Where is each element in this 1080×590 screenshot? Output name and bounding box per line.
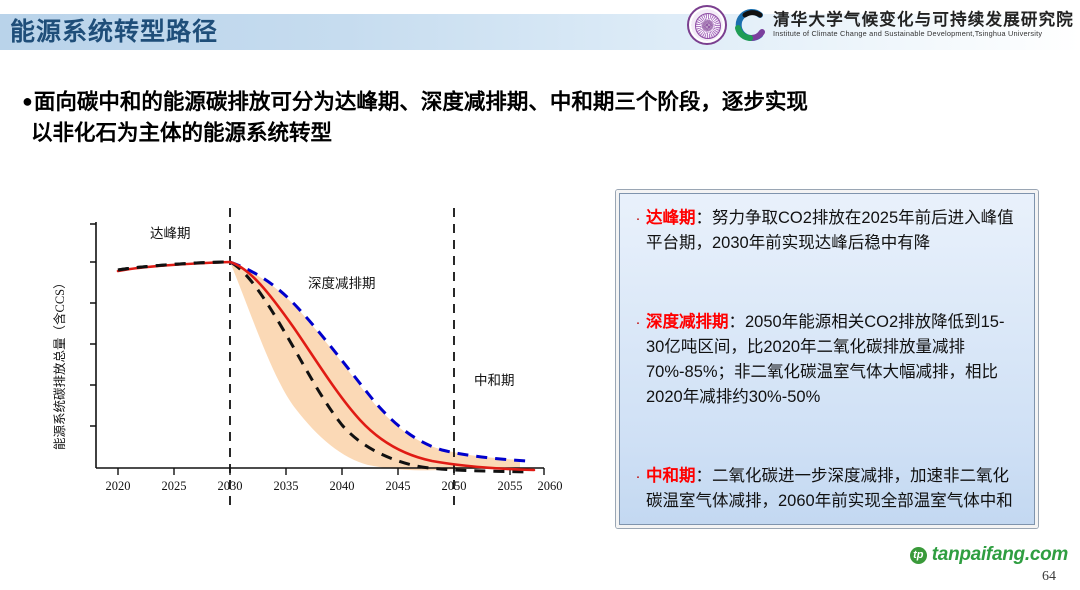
- y-axis-ticks: [90, 224, 96, 426]
- list-bullet-glyph: ·: [630, 206, 646, 231]
- phase-key-separator: ：: [729, 313, 746, 331]
- phase-key-separator: ：: [696, 467, 713, 485]
- x-tick-label: 2040: [330, 479, 355, 493]
- institute-logo-text: 清华大学气候变化与可持续发展研究院 Institute of Climate C…: [773, 11, 1074, 39]
- phase-key-label: 深度减排期: [646, 313, 729, 331]
- lead-bullet-glyph: ●: [22, 91, 33, 111]
- phase-description-text: 深度减排期：2050年能源相关CO2排放降低到15-30亿吨区间，比2020年二…: [646, 310, 1022, 410]
- phase-key-label: 中和期: [646, 467, 696, 485]
- page-number: 64: [1042, 569, 1056, 585]
- phase-description-text: 中和期：二氧化碳进一步深度减排，加速非二氧化碳温室气体减排，2060年前实现全部…: [646, 464, 1022, 514]
- phase-description-box: · 达峰期：努力争取CO2排放在2025年前后进入峰值平台期，2030年前实现达…: [616, 190, 1038, 528]
- scenario-band-area: [230, 262, 520, 470]
- phase-description-list: · 达峰期：努力争取CO2排放在2025年前后进入峰值平台期，2030年前实现达…: [619, 193, 1035, 525]
- x-tick-label: 2060: [538, 479, 563, 493]
- list-item: · 深度减排期：2050年能源相关CO2排放降低到15-30亿吨区间，比2020…: [630, 310, 1022, 410]
- list-bullet-glyph: ·: [630, 310, 646, 335]
- list-item: · 中和期：二氧化碳进一步深度减排，加速非二氧化碳温室气体减排，2060年前实现…: [630, 464, 1022, 514]
- phase-key-separator: ：: [696, 209, 713, 227]
- y-axis-title: 能源系统碳排放总量（含CCS）: [52, 276, 67, 450]
- watermark-badge-icon: tp: [910, 547, 927, 564]
- watermark-text: tanpaifang.com: [932, 544, 1068, 566]
- lead-line-1: 面向碳中和的能源碳排放可分为达峰期、深度减排期、中和期三个阶段，逐步实现: [34, 90, 808, 114]
- climate-c-logo-icon: [732, 8, 766, 42]
- institute-logo: 清华大学气候变化与可持续发展研究院 Institute of Climate C…: [687, 3, 1074, 47]
- x-tick-label: 2020: [106, 479, 131, 493]
- x-tick-label: 2035: [274, 479, 299, 493]
- x-tick-label: 2025: [162, 479, 187, 493]
- annotation-neutrality-phase: 中和期: [474, 373, 515, 388]
- institute-name-en: Institute of Climate Change and Sustaina…: [773, 29, 1080, 39]
- list-item: · 达峰期：努力争取CO2排放在2025年前后进入峰值平台期，2030年前实现达…: [630, 206, 1022, 256]
- annotation-peak-phase: 达峰期: [150, 226, 191, 241]
- chart-svg: 2020 2025 2030 2035 2040 2045 2050 2055 …: [50, 200, 610, 520]
- site-watermark: tp tanpaifang.com: [910, 544, 1068, 566]
- tsinghua-seal-icon: [687, 5, 727, 45]
- x-tick-label: 2045: [386, 479, 411, 493]
- page-title: 能源系统转型路径: [10, 15, 218, 49]
- lead-statement: ●面向碳中和的能源碳排放可分为达峰期、深度减排期、中和期三个阶段，逐步实现 以非…: [22, 86, 1052, 149]
- phase-description-text: 达峰期：努力争取CO2排放在2025年前后进入峰值平台期，2030年前实现达峰后…: [646, 206, 1022, 256]
- x-tick-label: 2055: [498, 479, 523, 493]
- lead-line-2: 以非化石为主体的能源系统转型: [22, 118, 1052, 149]
- institute-name-cn: 清华大学气候变化与可持续发展研究院: [773, 11, 1074, 29]
- x-axis-tick-labels: 2020 2025 2030 2035 2040 2045 2050 2055 …: [106, 479, 563, 493]
- list-bullet-glyph: ·: [630, 464, 646, 489]
- phase-key-label: 达峰期: [646, 209, 696, 227]
- emissions-pathway-chart: 2020 2025 2030 2035 2040 2045 2050 2055 …: [50, 200, 610, 520]
- annotation-deep-reduction-phase: 深度减排期: [308, 276, 376, 291]
